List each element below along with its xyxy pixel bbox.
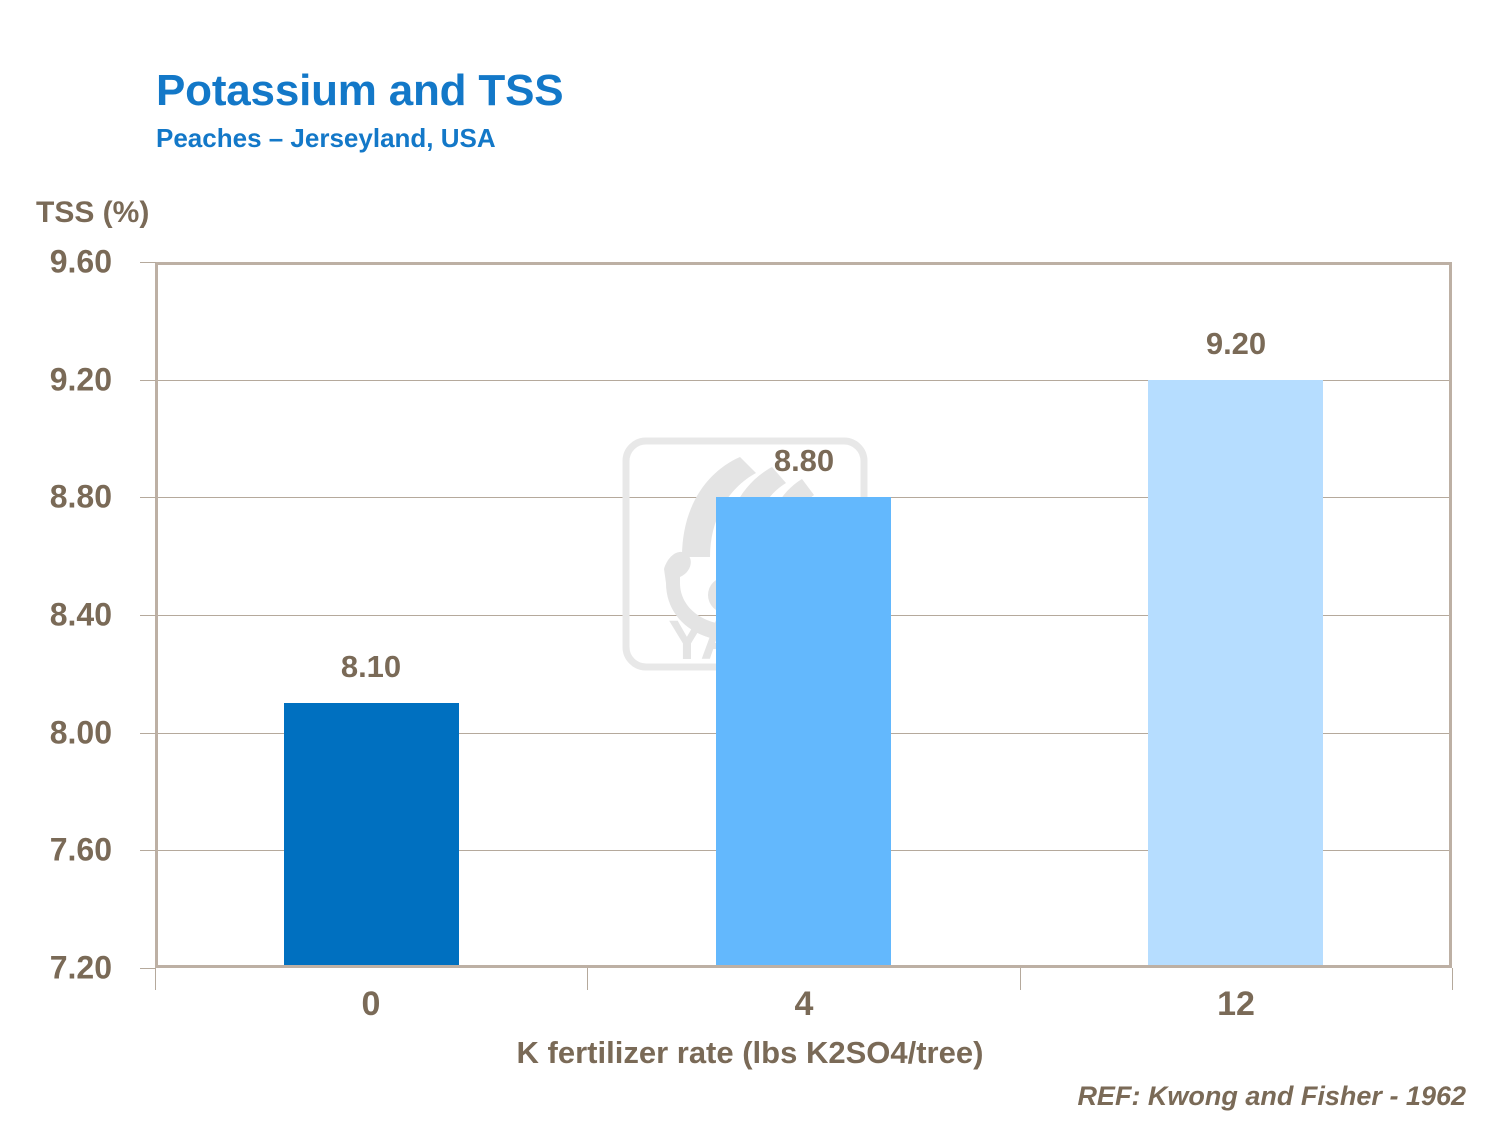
x-tick-mark xyxy=(587,968,588,990)
bar[interactable] xyxy=(1148,380,1323,965)
x-tick-label: 12 xyxy=(1086,985,1386,1024)
y-tick-mark xyxy=(140,262,156,263)
x-tick-mark xyxy=(155,968,156,990)
x-tick-mark xyxy=(1020,968,1021,990)
y-tick-label: 9.20 xyxy=(0,361,112,398)
y-tick-label: 9.60 xyxy=(0,244,112,281)
title-block: Potassium and TSS Peaches – Jerseyland, … xyxy=(156,68,1056,154)
y-tick-label: 8.40 xyxy=(0,597,112,634)
bar[interactable] xyxy=(284,703,459,965)
y-tick-label: 7.20 xyxy=(0,950,112,987)
bar-value-label: 9.20 xyxy=(1136,326,1336,362)
y-axis-title: TSS (%) xyxy=(36,196,149,230)
bar-value-label: 8.80 xyxy=(704,443,904,479)
y-tick-label: 8.80 xyxy=(0,479,112,516)
bar-value-label: 8.10 xyxy=(271,649,471,685)
y-tick-mark xyxy=(140,615,156,616)
y-tick-label: 8.00 xyxy=(0,714,112,751)
y-tick-mark xyxy=(140,497,156,498)
y-tick-label: 7.60 xyxy=(0,832,112,869)
x-tick-label: 0 xyxy=(221,985,521,1024)
y-tick-mark xyxy=(140,733,156,734)
chart-container: Potassium and TSS Peaches – Jerseyland, … xyxy=(0,0,1500,1125)
y-tick-mark xyxy=(140,968,156,969)
x-tick-label: 4 xyxy=(654,985,954,1024)
bar[interactable] xyxy=(716,497,891,965)
y-tick-mark xyxy=(140,380,156,381)
chart-subtitle: Peaches – Jerseyland, USA xyxy=(156,123,1056,154)
y-tick-mark xyxy=(140,850,156,851)
x-axis-title: K fertilizer rate (lbs K2SO4/tree) xyxy=(0,1035,1500,1071)
x-tick-mark xyxy=(1452,968,1453,990)
reference-note: REF: Kwong and Fisher - 1962 xyxy=(1077,1081,1466,1112)
chart-title: Potassium and TSS xyxy=(156,68,1056,115)
